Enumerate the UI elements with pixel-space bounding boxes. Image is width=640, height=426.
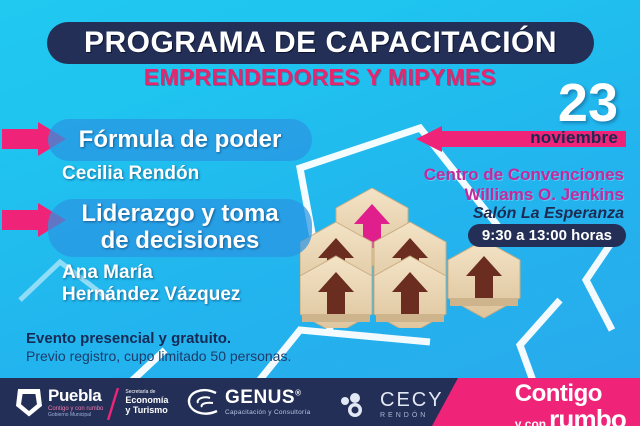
event-note-sub: Previo registro, cupo limitado 50 person… (26, 348, 291, 364)
logo-cecy: CECY RENDÓN (340, 390, 444, 419)
event-note-main: Evento presencial y gratuito. (26, 330, 231, 347)
event-month: noviembre (530, 128, 618, 148)
event-time: 9:30 a 13:00 horas (482, 227, 612, 244)
session-pill-1: Fórmula de poder (48, 119, 312, 161)
event-day: 23 (558, 76, 618, 130)
session-pill-2: Liderazgo y toma de decisiones (48, 199, 312, 257)
logo-puebla: Puebla Contigo y con rumbo Gobierno Muni… (16, 387, 168, 418)
footer-bar: Puebla Contigo y con rumbo Gobierno Muni… (0, 378, 640, 426)
session-2-title-line-2: de decisiones (101, 228, 260, 255)
session-1-speaker-line-1: Cecilia Rendón (62, 163, 199, 185)
session-2-speaker-line-2: Hernández Vázquez (62, 284, 240, 306)
session-2-speaker: Ana María Hernández Vázquez (62, 262, 240, 306)
slogan-word-1: Contigo (515, 382, 626, 406)
cecy-name: CECY (380, 390, 444, 410)
puebla-sub: Gobierno Municipal (48, 413, 103, 418)
session-1-speaker: Cecilia Rendón (62, 163, 199, 185)
session-2-speaker-line-1: Ana María (62, 262, 240, 284)
venue-line-1: Centro de Convenciones (424, 165, 624, 185)
secretaria-line-2: Economía (125, 395, 168, 405)
shield-icon (16, 389, 42, 417)
puebla-name: Puebla (48, 387, 103, 404)
event-time-badge: 9:30 a 13:00 horas (468, 224, 626, 247)
cecy-spiral-icon (340, 393, 374, 417)
hex-follow-5 (448, 240, 520, 318)
venue-line-2: Williams O. Jenkins (424, 185, 624, 205)
genus-swirl-icon (186, 388, 220, 416)
secretaria-line-3: y Turismo (125, 405, 168, 415)
page-title: PROGRAMA DE CAPACITACIÓN (84, 26, 557, 60)
event-venue: Centro de Convenciones Williams O. Jenki… (424, 165, 624, 206)
session-1-title-line-1: Fórmula de poder (79, 127, 282, 154)
promotional-flyer: PROGRAMA DE CAPACITACIÓN EMPRENDEDORES Y… (0, 0, 640, 426)
event-hall: Salón La Esperanza (473, 205, 624, 223)
genus-tagline: Capacitación y Consultoría (225, 410, 310, 417)
slogan-word-3: rumbo (549, 406, 626, 426)
cecy-sub: RENDÓN (380, 412, 444, 419)
swoosh-divider-icon (107, 388, 121, 418)
footer-slogan-block: Contigo y con rumbo (432, 378, 640, 426)
logo-genus: GENUS® Capacitación y Consultoría (186, 388, 310, 417)
genus-name: GENUS® (225, 388, 310, 407)
logo-secretaria: Secretaría de Economía y Turismo (125, 390, 168, 416)
footer-slogan: Contigo y con rumbo (515, 382, 626, 426)
session-2-title-line-1: Liderazgo y toma (81, 201, 278, 228)
flyer-title-pill: PROGRAMA DE CAPACITACIÓN (47, 22, 594, 64)
slogan-word-2: y con (515, 418, 546, 426)
flyer-subtitle: EMPRENDEDORES Y MIPYMES (0, 64, 640, 91)
